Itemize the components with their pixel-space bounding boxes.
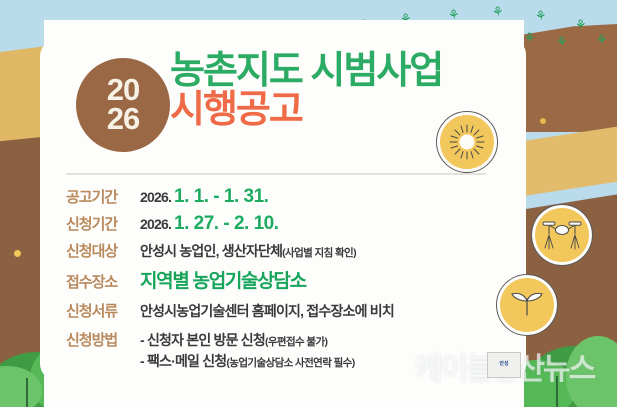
title-line-secondary: 시행공고 bbox=[170, 91, 560, 130]
sprout-icon-glyph bbox=[506, 285, 548, 325]
sprout-glyph-icon: ⚘ bbox=[595, 32, 608, 46]
row-note: (농업기술상담소 사전연락 필수) bbox=[226, 357, 354, 369]
row-label: 신청서류 bbox=[66, 300, 140, 321]
sprout-glyph-icon: ⚘ bbox=[491, 4, 504, 18]
poster-canvas: ⚘ ⚘ ⚘ ⚘ ⚘ ⚘ ⚘ ⚘ ⚘ 20 26 bbox=[0, 0, 617, 407]
row-highlight: 지역별 농업기술상담소 bbox=[140, 271, 306, 292]
row-value-text: - 팩스·메일 신청 bbox=[140, 353, 226, 369]
sprout-glyph-icon: ⚘ bbox=[534, 8, 547, 22]
decor-dot bbox=[14, 250, 21, 257]
bush-stem bbox=[26, 378, 28, 407]
row-label: 신청기간 bbox=[66, 213, 140, 234]
sprout-glyph-icon: ⚘ bbox=[574, 17, 587, 31]
row-note: (사업별 지침 확인) bbox=[282, 247, 356, 259]
detail-row-documents: 신청서류 안성시농업기술센터 홈페이지, 접수장소에 비치 bbox=[66, 300, 506, 321]
sun-icon bbox=[440, 115, 494, 169]
drone-sprayer-icon-glyph bbox=[540, 215, 584, 255]
sprout-glyph-icon: ⚘ bbox=[523, 30, 536, 44]
detail-row-application-period: 신청기간 2026.1. 27. - 2. 10. bbox=[66, 213, 506, 235]
row-note: (우편접수 불가) bbox=[265, 336, 327, 348]
header-divider bbox=[66, 173, 486, 175]
row-value-text: 안성시농업기술센터 홈페이지, 접수장소에 비치 bbox=[140, 303, 394, 319]
card-left-edge bbox=[40, 40, 64, 380]
year-badge-bottom: 26 bbox=[107, 105, 139, 134]
row-label: 접수장소 bbox=[66, 271, 140, 292]
detail-row-submission-place: 접수장소 지역별 농업기술상담소 bbox=[66, 266, 506, 293]
watermark-logo: 안성 bbox=[487, 352, 521, 378]
row-label: 신청방법 bbox=[66, 329, 140, 350]
row-value-text: - 신청자 본인 방문 신청 bbox=[140, 332, 265, 348]
row-year: 2026. bbox=[140, 216, 171, 232]
drone-sprayer-icon bbox=[535, 208, 589, 262]
sprout-glyph-icon: ⚘ bbox=[555, 34, 568, 48]
detail-row-eligibility: 신청대상 안성시 농업인, 생산자단체(사업별 지침 확인) bbox=[66, 240, 506, 261]
poster-title: 농촌지도 시범사업 시행공고 bbox=[170, 52, 560, 130]
detail-row-notice-period: 공고기간 2026.1. 1. - 1. 31. bbox=[66, 186, 506, 208]
year-badge: 20 26 bbox=[76, 58, 170, 152]
sun-icon-glyph bbox=[447, 122, 487, 162]
row-year: 2026. bbox=[140, 189, 171, 205]
row-label: 신청대상 bbox=[66, 240, 140, 261]
sprout-icon bbox=[500, 278, 554, 332]
title-line-primary: 농촌지도 시범사업 bbox=[170, 52, 560, 91]
row-highlight: 1. 27. - 2. 10. bbox=[174, 213, 278, 234]
row-highlight: 1. 1. - 1. 31. bbox=[174, 186, 268, 207]
row-label: 공고기간 bbox=[66, 186, 140, 207]
row-value-text: 안성시 농업인, 생산자단체 bbox=[140, 243, 282, 259]
